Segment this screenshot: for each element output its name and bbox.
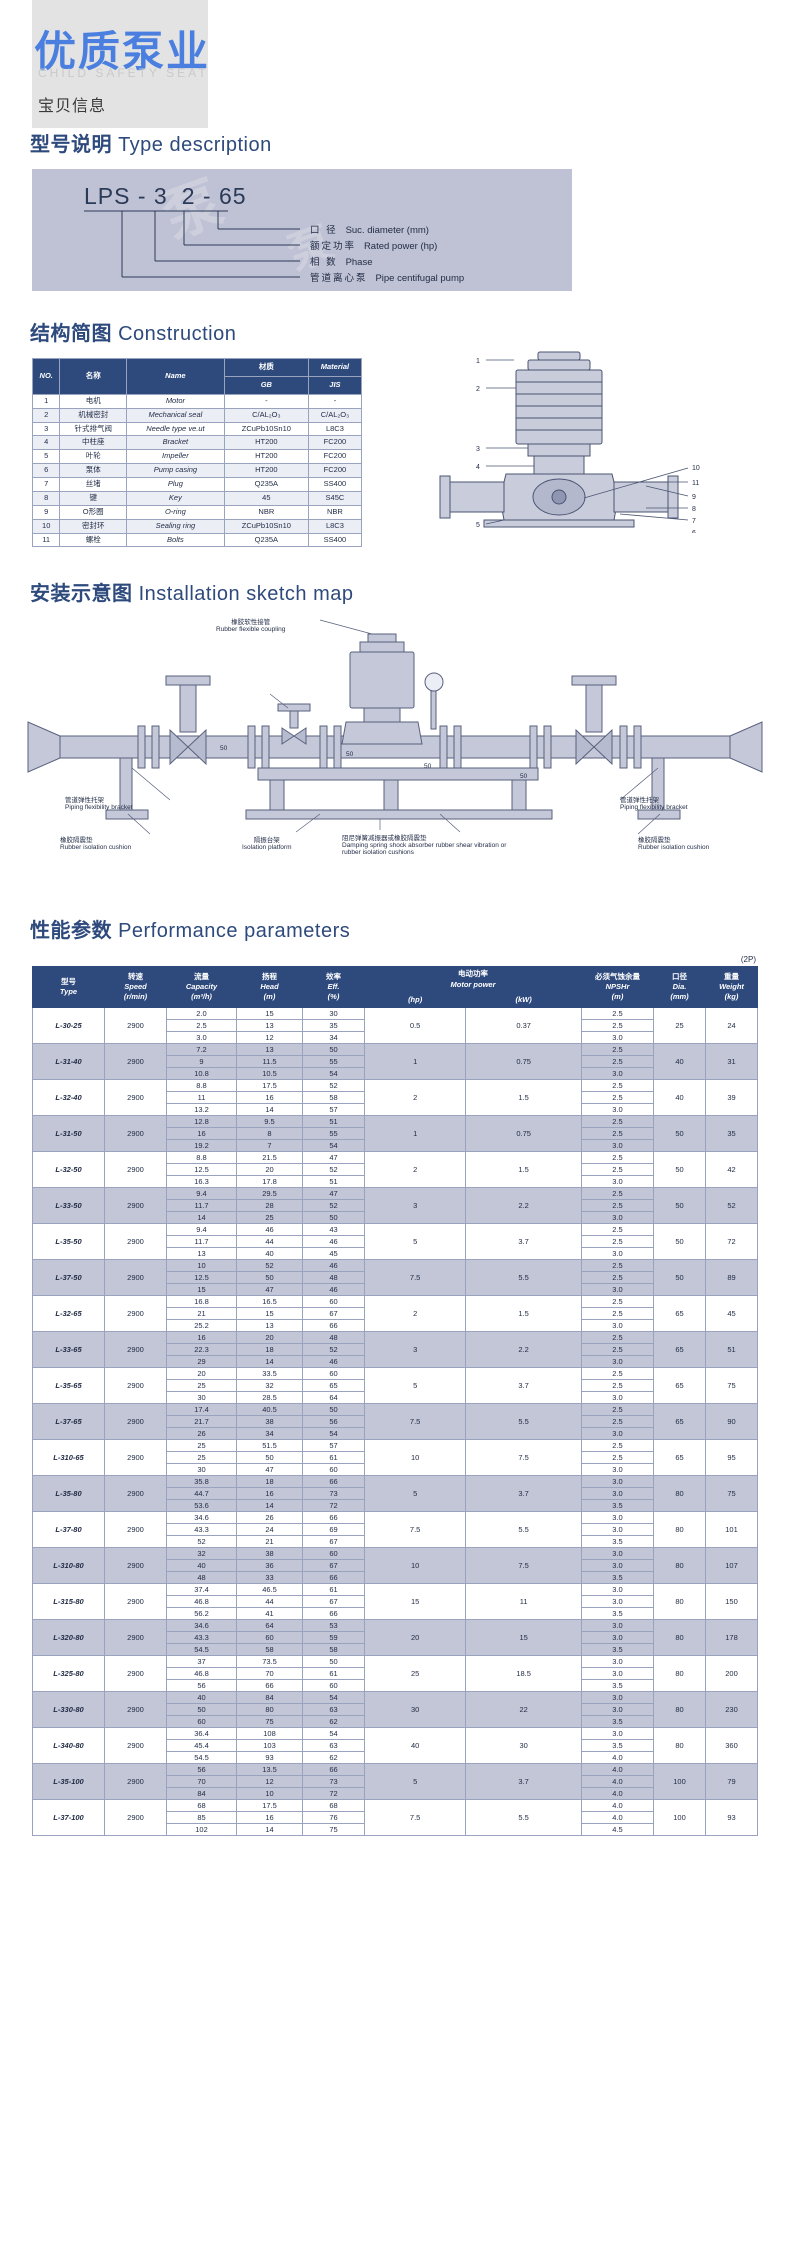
performance-cell-capacity: 3.0: [167, 1031, 237, 1043]
performance-cell-capacity: 34.6: [167, 1619, 237, 1631]
performance-cell-kw: 5.5: [466, 1799, 582, 1835]
performance-cell-dia: 80: [654, 1475, 706, 1511]
section-title-construction: 结构简图 Construction: [30, 317, 790, 346]
performance-cell-capacity: 14: [167, 1211, 237, 1223]
performance-cell-dia: 50: [654, 1259, 706, 1295]
installation-diagram: 50 50 50 50: [20, 618, 770, 908]
performance-cell-capacity: 12.5: [167, 1163, 237, 1175]
performance-cell-head: 38: [237, 1547, 303, 1559]
performance-cell-weight: 93: [706, 1799, 758, 1835]
performance-cell-weight: 200: [706, 1655, 758, 1691]
performance-cell-hp: 5: [365, 1367, 466, 1403]
section-title-type-description: 型号说明 Type description: [30, 128, 790, 157]
performance-cell-capacity: 25.2: [167, 1319, 237, 1331]
performance-cell-npshr: 3.0: [582, 1463, 654, 1475]
construction-cell-no: 9: [33, 505, 60, 519]
performance-note: (2P): [0, 955, 756, 964]
svg-text:5: 5: [476, 522, 480, 529]
construction-cell-no: 10: [33, 519, 60, 533]
type-label-phase-cn: 相 数: [310, 257, 338, 268]
performance-cell-speed: 2900: [105, 1223, 167, 1259]
performance-table-head: 型号 Type 转速 Speed (r/min) 流量 Capacity (m³…: [33, 967, 758, 1007]
construction-cell-jis: C/AL₂O₃: [308, 408, 361, 422]
performance-cell-npshr: 4.0: [582, 1787, 654, 1799]
performance-cell-eff: 60: [303, 1367, 365, 1379]
callout-piping-bracket-left-en: Piping flexibility bracket: [65, 804, 133, 811]
performance-cell-capacity: 9: [167, 1055, 237, 1067]
construction-cell-nm: 叶轮: [60, 450, 127, 464]
performance-cell-npshr: 3.0: [582, 1427, 654, 1439]
type-description-leader-lines: [32, 169, 572, 291]
pump-construction-illustration: 1 2 3 4 5 11 10 9 8 7 6: [388, 348, 758, 533]
performance-cell-capacity: 54.5: [167, 1751, 237, 1763]
performance-cell-npshr: 3.5: [582, 1643, 654, 1655]
performance-cell-npshr: 3.0: [582, 1355, 654, 1367]
section-title-type-description-cn: 型号说明: [30, 134, 112, 156]
performance-cell-head: 44: [237, 1235, 303, 1247]
construction-cell-gb: 45: [224, 491, 308, 505]
performance-cell-kw: 1.5: [466, 1151, 582, 1187]
performance-cell-capacity: 20: [167, 1367, 237, 1379]
section-title-construction-en: Construction: [118, 323, 236, 345]
performance-cell-eff: 54: [303, 1427, 365, 1439]
performance-cell-weight: 52: [706, 1187, 758, 1223]
performance-cell-dia: 80: [654, 1691, 706, 1727]
section-title-performance: 性能参数 Performance parameters: [30, 914, 790, 943]
performance-cell-capacity: 16: [167, 1331, 237, 1343]
performance-cell-capacity: 32: [167, 1547, 237, 1559]
performance-cell-head: 44: [237, 1595, 303, 1607]
performance-cell-capacity: 56.2: [167, 1607, 237, 1619]
construction-cell-en: Bolts: [127, 533, 225, 547]
construction-cell-jis: L8C3: [308, 422, 361, 436]
ph-dia: 口径 Dia. (mm): [654, 967, 706, 1007]
performance-cell-capacity: 56: [167, 1679, 237, 1691]
performance-cell-capacity: 29: [167, 1355, 237, 1367]
performance-cell-capacity: 84: [167, 1787, 237, 1799]
performance-cell-head: 12: [237, 1775, 303, 1787]
performance-cell-head: 36: [237, 1559, 303, 1571]
performance-cell-npshr: 3.0: [582, 1523, 654, 1535]
performance-cell-head: 16: [237, 1811, 303, 1823]
performance-cell-head: 16: [237, 1091, 303, 1103]
construction-cell-no: 7: [33, 478, 60, 492]
performance-cell-npshr: 2.5: [582, 1271, 654, 1283]
construction-cell-jis: SS400: [308, 533, 361, 547]
performance-cell-type: L-31-50: [33, 1115, 105, 1151]
construction-row: 9O形圈O-ringNBRNBR: [33, 505, 362, 519]
performance-cell-capacity: 11: [167, 1091, 237, 1103]
performance-cell-eff: 52: [303, 1163, 365, 1175]
svg-text:9: 9: [692, 494, 696, 501]
performance-cell-eff: 34: [303, 1031, 365, 1043]
performance-cell-type: L-35-80: [33, 1475, 105, 1511]
svg-text:8: 8: [692, 506, 696, 513]
ph-motor-hp: (hp): [365, 992, 466, 1007]
callout-damping-spring-en: Damping spring shock absorber rubber she…: [342, 842, 512, 856]
callout-piping-bracket-right: 管道弹性托架 Piping flexibility bracket: [620, 794, 688, 811]
performance-cell-npshr: 2.5: [582, 1151, 654, 1163]
performance-cell-eff: 30: [303, 1007, 365, 1019]
performance-cell-dia: 80: [654, 1619, 706, 1655]
performance-cell-head: 15: [237, 1307, 303, 1319]
performance-cell-head: 14: [237, 1103, 303, 1115]
performance-cell-npshr: 2.5: [582, 1079, 654, 1091]
performance-cell-eff: 60: [303, 1679, 365, 1691]
col-name-cn: 名称: [60, 359, 127, 395]
performance-cell-eff: 61: [303, 1667, 365, 1679]
performance-cell-npshr: 2.5: [582, 1187, 654, 1199]
type-label-pump: 管道离心泵 Pipe centifugal pump: [310, 270, 464, 284]
performance-row: L-37-10029006817.5687.55.54.010093: [33, 1799, 758, 1811]
performance-cell-npshr: 3.5: [582, 1571, 654, 1583]
performance-table-body: L-30-2529002.015300.50.372.525242.513352…: [33, 1007, 758, 1835]
construction-cell-nm: 键: [60, 491, 127, 505]
performance-cell-capacity: 8.8: [167, 1151, 237, 1163]
performance-cell-type: L-35-65: [33, 1367, 105, 1403]
performance-cell-npshr: 3.0: [582, 1595, 654, 1607]
performance-cell-npshr: 3.0: [582, 1667, 654, 1679]
svg-text:2: 2: [476, 386, 480, 393]
performance-cell-eff: 48: [303, 1331, 365, 1343]
construction-cell-jis: FC200: [308, 436, 361, 450]
performance-cell-npshr: 3.0: [582, 1727, 654, 1739]
construction-cell-no: 6: [33, 464, 60, 478]
performance-cell-head: 32: [237, 1379, 303, 1391]
construction-cell-en: O-ring: [127, 505, 225, 519]
performance-cell-type: L-33-50: [33, 1187, 105, 1223]
performance-cell-capacity: 56: [167, 1763, 237, 1775]
performance-cell-eff: 45: [303, 1247, 365, 1259]
performance-cell-speed: 2900: [105, 1475, 167, 1511]
performance-cell-kw: 1.5: [466, 1079, 582, 1115]
performance-cell-npshr: 2.5: [582, 1235, 654, 1247]
construction-cell-jis: NBR: [308, 505, 361, 519]
performance-cell-weight: 79: [706, 1763, 758, 1799]
performance-row: L-320-80290034.6645320153.080178: [33, 1619, 758, 1631]
performance-cell-dia: 65: [654, 1403, 706, 1439]
performance-cell-npshr: 3.0: [582, 1175, 654, 1187]
performance-cell-weight: 75: [706, 1367, 758, 1403]
col-material-cn: 材质: [224, 359, 308, 377]
callout-isolation-platform-en: Isolation platform: [242, 844, 292, 851]
svg-text:10: 10: [692, 465, 700, 472]
performance-cell-capacity: 45.4: [167, 1739, 237, 1751]
performance-cell-npshr: 3.0: [582, 1619, 654, 1631]
performance-cell-type: L-310-80: [33, 1547, 105, 1583]
performance-cell-kw: 0.75: [466, 1115, 582, 1151]
performance-cell-npshr: 2.5: [582, 1127, 654, 1139]
performance-cell-capacity: 46.8: [167, 1667, 237, 1679]
construction-table-head: NO. 名称 Name 材质 Material GB JIS: [33, 359, 362, 395]
performance-cell-eff: 62: [303, 1751, 365, 1763]
performance-cell-capacity: 25: [167, 1451, 237, 1463]
construction-table-body: 1电机Motor--2机械密封Mechanical sealC/AL₂O₃C/A…: [33, 394, 362, 547]
construction-cell-en: Pump casing: [127, 464, 225, 478]
performance-cell-kw: 22: [466, 1691, 582, 1727]
performance-cell-capacity: 53.6: [167, 1499, 237, 1511]
performance-cell-hp: 20: [365, 1619, 466, 1655]
performance-cell-head: 17.5: [237, 1079, 303, 1091]
performance-cell-head: 58: [237, 1643, 303, 1655]
construction-cell-gb: ZCuPb10Sn10: [224, 519, 308, 533]
construction-cell-en: Motor: [127, 394, 225, 408]
performance-cell-capacity: 40: [167, 1559, 237, 1571]
callout-rubber-coupling-en: Rubber flexible coupling: [216, 626, 285, 633]
performance-cell-eff: 57: [303, 1103, 365, 1115]
performance-row: L-35-6529002033.56053.72.56575: [33, 1367, 758, 1379]
performance-cell-eff: 46: [303, 1355, 365, 1367]
performance-cell-type: L-37-65: [33, 1403, 105, 1439]
performance-cell-head: 26: [237, 1511, 303, 1523]
performance-cell-capacity: 35.8: [167, 1475, 237, 1487]
performance-cell-kw: 11: [466, 1583, 582, 1619]
performance-cell-type: L-35-50: [33, 1223, 105, 1259]
performance-row: L-32-4029008.817.55221.52.54039: [33, 1079, 758, 1091]
performance-cell-head: 40: [237, 1247, 303, 1259]
construction-cell-nm: 电机: [60, 394, 127, 408]
performance-cell-npshr: 3.0: [582, 1391, 654, 1403]
ph-motor: 电动功率 Motor power: [365, 967, 582, 992]
performance-cell-eff: 54: [303, 1727, 365, 1739]
construction-cell-nm: 针式排气阀: [60, 422, 127, 436]
performance-cell-type: L-310-65: [33, 1439, 105, 1475]
performance-cell-type: L-35-100: [33, 1763, 105, 1799]
performance-cell-kw: 2.2: [466, 1187, 582, 1223]
construction-cell-gb: HT200: [224, 436, 308, 450]
type-label-rated-power-en: Rated power (hp): [364, 241, 437, 252]
performance-row: L-340-80290036.41085440303.080360: [33, 1727, 758, 1739]
performance-cell-capacity: 19.2: [167, 1139, 237, 1151]
construction-cell-nm: O形圈: [60, 505, 127, 519]
performance-cell-head: 50: [237, 1271, 303, 1283]
construction-area: NO. 名称 Name 材质 Material GB JIS 1电机Motor-…: [32, 358, 758, 547]
construction-header-row: NO. 名称 Name 材质 Material: [33, 359, 362, 377]
performance-cell-npshr: 3.0: [582, 1547, 654, 1559]
performance-cell-kw: 0.75: [466, 1043, 582, 1079]
construction-cell-no: 5: [33, 450, 60, 464]
performance-cell-kw: 2.2: [466, 1331, 582, 1367]
performance-cell-capacity: 30: [167, 1391, 237, 1403]
performance-cell-dia: 65: [654, 1439, 706, 1475]
performance-cell-eff: 60: [303, 1547, 365, 1559]
performance-cell-hp: 2: [365, 1295, 466, 1331]
construction-cell-no: 1: [33, 394, 60, 408]
ph-eff: 效率 Eff. (%): [303, 967, 365, 1007]
svg-text:1: 1: [476, 358, 480, 365]
performance-cell-head: 13: [237, 1043, 303, 1055]
performance-cell-kw: 0.37: [466, 1007, 582, 1043]
section-title-installation-en: Installation sketch map: [139, 583, 354, 605]
performance-cell-eff: 43: [303, 1223, 365, 1235]
performance-cell-dia: 65: [654, 1295, 706, 1331]
performance-cell-weight: 360: [706, 1727, 758, 1763]
performance-cell-eff: 66: [303, 1607, 365, 1619]
performance-cell-head: 34: [237, 1427, 303, 1439]
performance-cell-eff: 67: [303, 1535, 365, 1547]
performance-cell-npshr: 3.0: [582, 1691, 654, 1703]
performance-cell-capacity: 44.7: [167, 1487, 237, 1499]
performance-cell-eff: 67: [303, 1307, 365, 1319]
performance-cell-eff: 54: [303, 1691, 365, 1703]
performance-cell-eff: 67: [303, 1595, 365, 1607]
performance-row: L-37-5029001052467.55.52.55089: [33, 1259, 758, 1271]
section-title-performance-cn: 性能参数: [30, 920, 112, 942]
ph-speed: 转速 Speed (r/min): [105, 967, 167, 1007]
performance-cell-weight: 89: [706, 1259, 758, 1295]
performance-cell-head: 28.5: [237, 1391, 303, 1403]
performance-cell-speed: 2900: [105, 1187, 167, 1223]
performance-cell-npshr: 4.0: [582, 1763, 654, 1775]
performance-cell-npshr: 3.0: [582, 1487, 654, 1499]
performance-cell-capacity: 15: [167, 1283, 237, 1295]
construction-row: 2机械密封Mechanical sealC/AL₂O₃C/AL₂O₃: [33, 408, 362, 422]
performance-cell-kw: 5.5: [466, 1511, 582, 1547]
performance-cell-dia: 65: [654, 1331, 706, 1367]
performance-cell-head: 73.5: [237, 1655, 303, 1667]
construction-cell-gb: ZCuPb10Sn10: [224, 422, 308, 436]
performance-cell-capacity: 21: [167, 1307, 237, 1319]
performance-cell-eff: 54: [303, 1139, 365, 1151]
callout-isolation-platform: 隔振台架 Isolation platform: [242, 834, 292, 851]
svg-text:50: 50: [520, 773, 528, 780]
performance-cell-head: 108: [237, 1727, 303, 1739]
performance-cell-head: 41: [237, 1607, 303, 1619]
performance-cell-eff: 52: [303, 1199, 365, 1211]
performance-cell-weight: 107: [706, 1547, 758, 1583]
performance-row: L-35-5029009.4464353.72.55072: [33, 1223, 758, 1235]
performance-cell-head: 46: [237, 1223, 303, 1235]
performance-cell-eff: 51: [303, 1115, 365, 1127]
performance-cell-hp: 10: [365, 1547, 466, 1583]
performance-cell-eff: 47: [303, 1187, 365, 1199]
col-name-en: Name: [127, 359, 225, 395]
performance-cell-weight: 51: [706, 1331, 758, 1367]
performance-cell-capacity: 46.8: [167, 1595, 237, 1607]
performance-cell-dia: 80: [654, 1655, 706, 1691]
performance-cell-hp: 25: [365, 1655, 466, 1691]
construction-cell-no: 2: [33, 408, 60, 422]
performance-cell-eff: 75: [303, 1823, 365, 1835]
construction-cell-nm: 螺栓: [60, 533, 127, 547]
performance-cell-speed: 2900: [105, 1439, 167, 1475]
performance-cell-hp: 5: [365, 1223, 466, 1259]
performance-cell-speed: 2900: [105, 1583, 167, 1619]
callout-rubber-cushion-right-cn: 橡胶隔震垫: [638, 834, 709, 844]
performance-cell-capacity: 40: [167, 1691, 237, 1703]
performance-cell-speed: 2900: [105, 1331, 167, 1367]
performance-cell-capacity: 70: [167, 1775, 237, 1787]
performance-cell-head: 20: [237, 1331, 303, 1343]
performance-cell-type: L-37-80: [33, 1511, 105, 1547]
performance-row: L-31-50290012.89.55110.752.55035: [33, 1115, 758, 1127]
performance-cell-head: 47: [237, 1463, 303, 1475]
performance-cell-eff: 63: [303, 1739, 365, 1751]
performance-cell-head: 13: [237, 1019, 303, 1031]
type-label-rated-power-cn: 额定功率: [310, 241, 356, 252]
performance-cell-capacity: 30: [167, 1463, 237, 1475]
performance-cell-capacity: 36.4: [167, 1727, 237, 1739]
performance-cell-npshr: 2.5: [582, 1415, 654, 1427]
construction-row: 10密封环Sealing ringZCuPb10Sn10L8C3: [33, 519, 362, 533]
construction-cell-gb: Q235A: [224, 478, 308, 492]
performance-cell-capacity: 11.7: [167, 1235, 237, 1247]
type-label-diameter-cn: 口 径: [310, 225, 338, 236]
ph-type: 型号 Type: [33, 967, 105, 1007]
performance-cell-head: 16.5: [237, 1295, 303, 1307]
performance-cell-type: L-31-40: [33, 1043, 105, 1079]
performance-row: L-33-65290016204832.22.56551: [33, 1331, 758, 1343]
callout-rubber-cushion-left-en: Rubber isolation cushion: [60, 844, 131, 851]
performance-cell-hp: 2: [365, 1079, 466, 1115]
construction-cell-en: Sealing ring: [127, 519, 225, 533]
performance-cell-type: L-32-65: [33, 1295, 105, 1331]
performance-cell-eff: 69: [303, 1523, 365, 1535]
construction-cell-jis: -: [308, 394, 361, 408]
performance-cell-type: L-320-80: [33, 1619, 105, 1655]
performance-cell-kw: 3.7: [466, 1223, 582, 1259]
performance-cell-head: 10.5: [237, 1067, 303, 1079]
performance-cell-hp: 5: [365, 1475, 466, 1511]
performance-cell-type: L-32-50: [33, 1151, 105, 1187]
performance-cell-head: 84: [237, 1691, 303, 1703]
performance-cell-dia: 25: [654, 1007, 706, 1043]
performance-cell-capacity: 60: [167, 1715, 237, 1727]
page-banner: 优质泵业 CHILD SAFETY SEAT 宝贝信息: [0, 0, 790, 128]
performance-cell-npshr: 2.5: [582, 1007, 654, 1019]
installation-sketch: 50 50 50 50 橡胶软性接管 Rubber flexible coupl…: [20, 618, 770, 908]
performance-cell-head: 93: [237, 1751, 303, 1763]
performance-cell-head: 13.5: [237, 1763, 303, 1775]
performance-cell-eff: 61: [303, 1451, 365, 1463]
svg-text:7: 7: [692, 518, 696, 525]
construction-cell-no: 3: [33, 422, 60, 436]
performance-cell-eff: 76: [303, 1811, 365, 1823]
performance-cell-eff: 50: [303, 1043, 365, 1055]
type-label-phase-en: Phase: [346, 257, 373, 268]
construction-cell-en: Plug: [127, 478, 225, 492]
performance-cell-eff: 51: [303, 1175, 365, 1187]
performance-cell-head: 52: [237, 1259, 303, 1271]
construction-cell-en: Key: [127, 491, 225, 505]
performance-cell-head: 11.5: [237, 1055, 303, 1067]
performance-cell-dia: 50: [654, 1151, 706, 1187]
performance-cell-npshr: 2.5: [582, 1451, 654, 1463]
performance-cell-eff: 52: [303, 1079, 365, 1091]
performance-cell-capacity: 48: [167, 1571, 237, 1583]
performance-cell-type: L-315-80: [33, 1583, 105, 1619]
performance-cell-capacity: 25: [167, 1379, 237, 1391]
construction-cell-en: Impeller: [127, 450, 225, 464]
performance-cell-head: 46.5: [237, 1583, 303, 1595]
performance-cell-npshr: 2.5: [582, 1259, 654, 1271]
section-title-installation: 安装示意图 Installation sketch map: [30, 577, 790, 606]
performance-cell-eff: 66: [303, 1475, 365, 1487]
col-no: NO.: [33, 359, 60, 395]
svg-text:50: 50: [220, 745, 228, 752]
performance-cell-kw: 3.7: [466, 1367, 582, 1403]
ph-capacity: 流量 Capacity (m³/h): [167, 967, 237, 1007]
performance-cell-eff: 53: [303, 1619, 365, 1631]
performance-cell-head: 29.5: [237, 1187, 303, 1199]
performance-row: L-37-65290017.440.5507.55.52.56590: [33, 1403, 758, 1415]
performance-cell-weight: 45: [706, 1295, 758, 1331]
performance-cell-dia: 80: [654, 1547, 706, 1583]
construction-row: 7丝堵PlugQ235ASS400: [33, 478, 362, 492]
performance-cell-eff: 50: [303, 1211, 365, 1223]
performance-cell-type: L-30-25: [33, 1007, 105, 1043]
construction-cell-nm: 机械密封: [60, 408, 127, 422]
